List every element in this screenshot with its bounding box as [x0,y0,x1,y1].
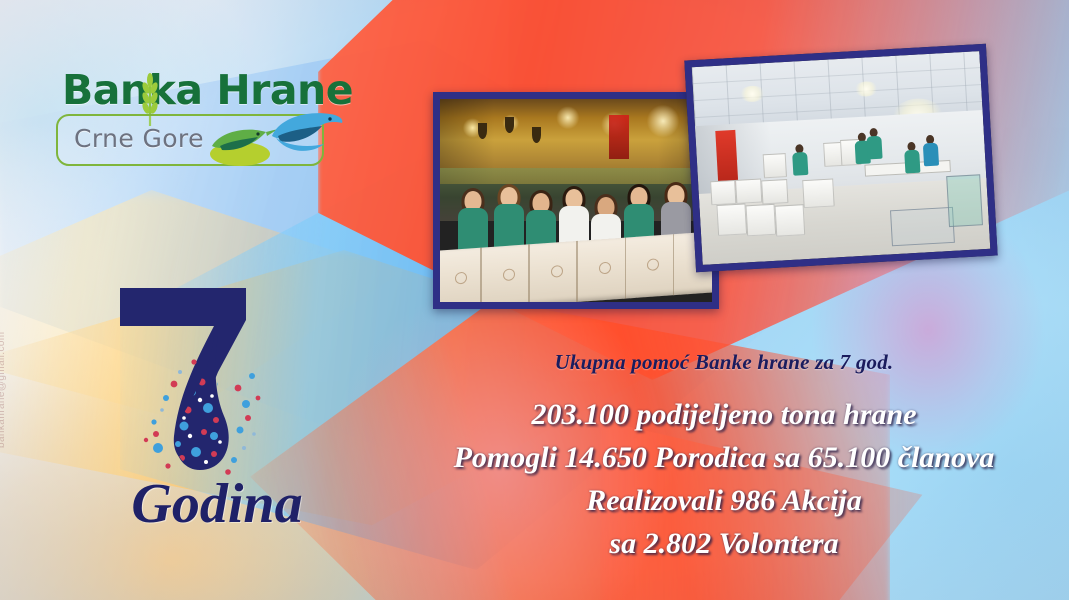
logo-banka-hrane: Banka Hrane Crne Gore [56,66,334,174]
stats-line-2: Pomogli 14.650 Porodica sa 65.100 članov… [404,436,1044,479]
poster-canvas: Banka Hrane Crne Gore [0,0,1069,600]
bird-blue-icon [268,110,346,160]
anniversary-seven-block: Godina [96,276,336,556]
stats-line-3: Realizovali 986 Akcija [404,479,1044,522]
photo-warehouse-sorting [684,44,997,273]
stats-line-1: 203.100 podijeljeno tona hrane [404,393,1044,436]
logo-subtitle: Crne Gore [74,124,204,153]
godina-label: Godina [102,472,332,536]
photo-volunteers-supermarket [433,92,719,309]
watermark-text: bankahrane@gmail.com [0,331,7,448]
numeral-seven-icon [96,276,336,486]
logo-title: Banka Hrane [62,66,353,114]
stats-heading: Ukupna pomoć Banke hrane za 7 god. [404,350,1044,375]
stats-line-4: sa 2.802 Volontera [404,522,1044,565]
stats-block: Ukupna pomoć Banke hrane za 7 god. 203.1… [404,350,1044,565]
